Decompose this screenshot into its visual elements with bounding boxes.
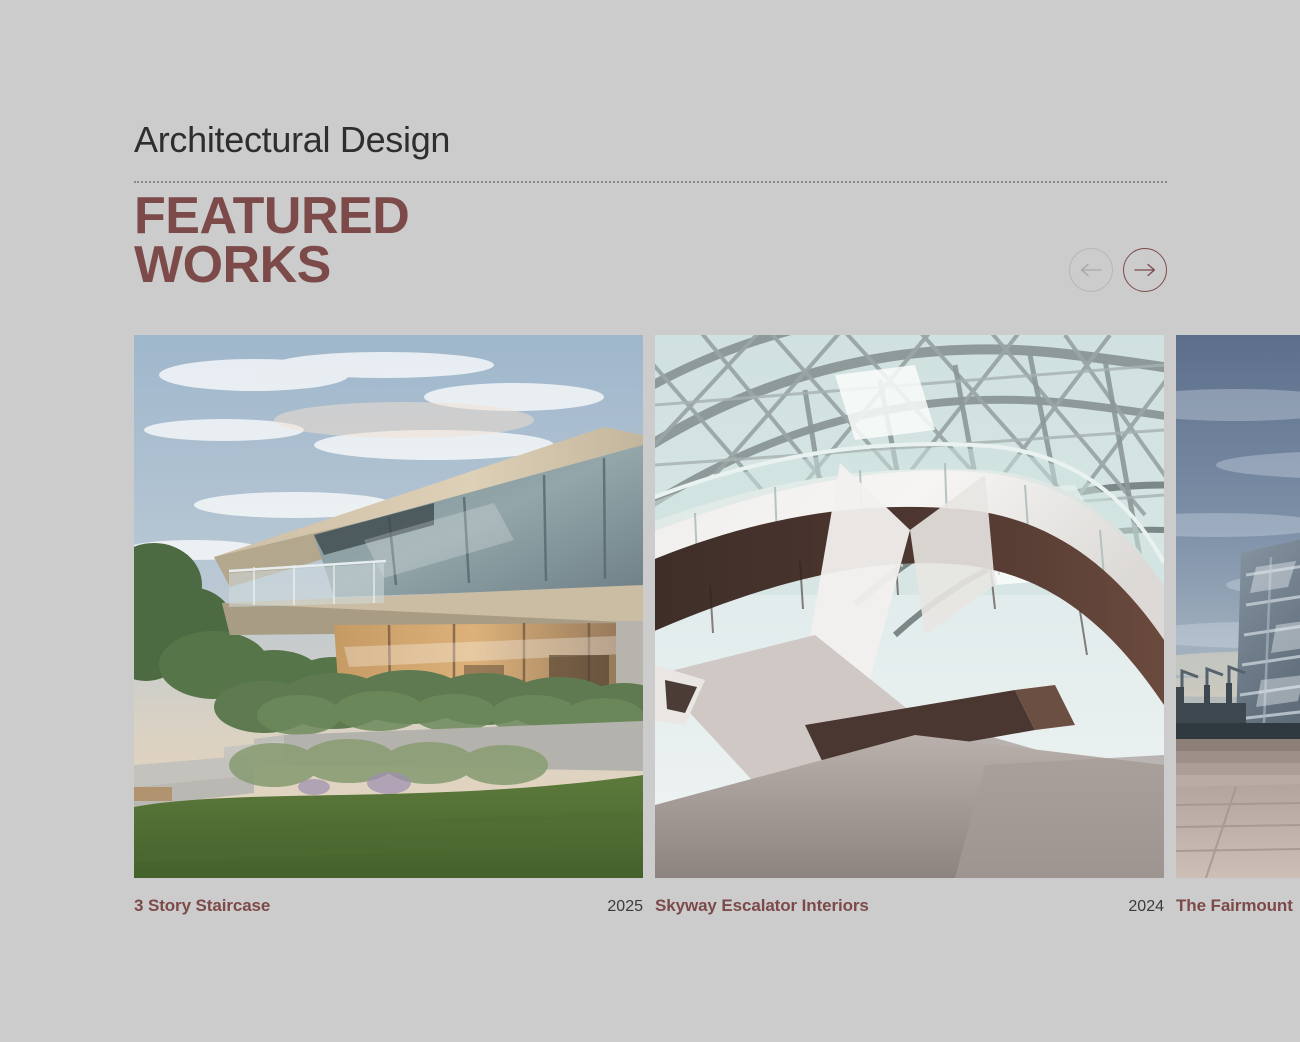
arrow-left-icon: [1080, 263, 1102, 277]
featured-works-page: Architectural Design FEATURED WORKS: [0, 0, 1300, 1042]
project-caption: 3 Story Staircase 2025: [134, 896, 643, 916]
title-row: FEATURED WORKS: [134, 192, 1167, 292]
page-title: FEATURED WORKS: [134, 192, 409, 290]
project-caption: The Fairmount: [1176, 896, 1300, 916]
project-card[interactable]: 3 Story Staircase 2025: [134, 335, 643, 935]
faceted-museum-image: [1176, 335, 1300, 878]
project-title[interactable]: The Fairmount: [1176, 896, 1293, 916]
page-title-line-1: FEATURED: [134, 192, 409, 241]
project-card[interactable]: Skyway Escalator Interiors 2024: [655, 335, 1164, 935]
page-header: Architectural Design: [134, 118, 1167, 183]
project-thumbnail[interactable]: [655, 335, 1164, 878]
carousel-track[interactable]: 3 Story Staircase 2025: [134, 335, 1300, 935]
project-thumbnail[interactable]: [134, 335, 643, 878]
project-card[interactable]: The Fairmount: [1176, 335, 1300, 935]
carousel-prev-button[interactable]: [1069, 248, 1113, 292]
project-title[interactable]: Skyway Escalator Interiors: [655, 896, 869, 916]
project-thumbnail[interactable]: [1176, 335, 1300, 878]
project-title[interactable]: 3 Story Staircase: [134, 896, 270, 916]
carousel-nav: [1069, 248, 1167, 292]
arrow-right-icon: [1134, 263, 1156, 277]
house-sunset-image: [134, 335, 643, 878]
page-eyebrow: Architectural Design: [134, 118, 1167, 161]
projects-carousel[interactable]: 3 Story Staircase 2025: [134, 335, 1300, 935]
project-year: 2024: [1128, 898, 1164, 916]
atrium-escalator-image: [655, 335, 1164, 878]
header-divider: [134, 181, 1167, 183]
project-year: 2025: [607, 898, 643, 916]
carousel-next-button[interactable]: [1123, 248, 1167, 292]
page-title-line-2: WORKS: [134, 241, 409, 290]
project-caption: Skyway Escalator Interiors 2024: [655, 896, 1164, 916]
